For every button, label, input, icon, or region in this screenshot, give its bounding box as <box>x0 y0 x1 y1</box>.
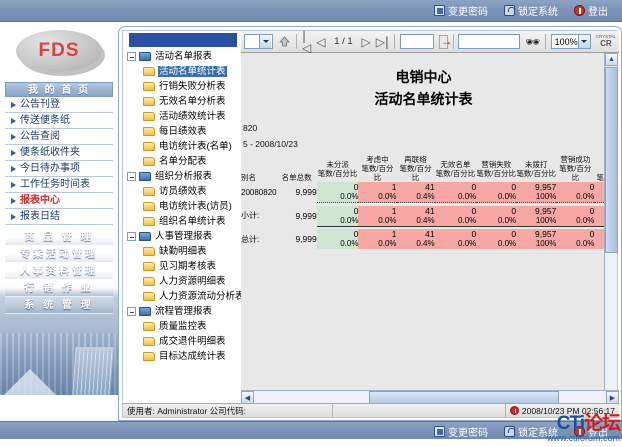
tree-item-label: 名单分配表 <box>158 156 208 167</box>
clock-icon <box>510 406 519 415</box>
cell-count: 0 <box>435 182 477 192</box>
report-meta-line1: 820 <box>241 123 606 133</box>
tree-header-bar <box>129 33 237 47</box>
cell-pct: 0.0% <box>358 239 396 249</box>
lock-system-button-bottom[interactable]: 锁定系统 <box>504 424 558 439</box>
tree-item-absence-detail[interactable]: 缺勤明细表 <box>123 244 241 259</box>
sidebar-item-task-schedule[interactable]: 工作任务时间表 <box>5 177 113 193</box>
tree-item-label: 见习期考核表 <box>158 261 217 272</box>
cell-pct: 0.0% <box>476 239 516 249</box>
table-header: 别名 名单总数 未分派笔数/百分比 考虑中笔数/百分比 再联络笔数/百分比 <box>241 155 606 182</box>
cell-pct: 0.0% <box>556 216 594 227</box>
cell-pct: 0.0% <box>435 192 477 203</box>
cell-count: 9,957 <box>516 229 556 239</box>
cell-pct: 0.0% <box>317 239 359 249</box>
chevron-down-icon[interactable] <box>259 35 271 48</box>
bullet-arrow-icon <box>11 150 16 156</box>
sidebar-section-campaign[interactable]: 专案活动管理 <box>5 246 113 263</box>
col-head-total: 名单总数 <box>277 155 317 182</box>
search-button[interactable]: 🕶 <box>525 34 540 49</box>
goto-page-button[interactable] <box>439 35 448 49</box>
lock-system-button[interactable]: 锁定系统 <box>504 3 558 18</box>
logout-button[interactable]: 登出 <box>574 3 608 18</box>
cell-pct: 0.0% <box>476 192 516 203</box>
folder-icon <box>139 307 151 316</box>
row-label: 总计: <box>241 229 277 249</box>
tree-group-label: 活动名单报表 <box>154 51 213 62</box>
report-icon <box>143 247 155 256</box>
report-vertical-scrollbar[interactable]: ▲ ▼ <box>604 53 617 405</box>
lock-icon <box>504 426 515 437</box>
status-datetime: 2008/10/23 PM 02:56:17 <box>522 406 615 416</box>
report-icon <box>143 82 155 91</box>
toolbar-separator <box>394 34 395 49</box>
change-password-button-bottom[interactable]: 变更密码 <box>434 424 488 439</box>
table-row: 小计: 9,999 0 1 41 0 0 9,957 0 <box>241 206 606 216</box>
tree-group-label: 流程管理报表 <box>154 306 213 317</box>
report-icon <box>143 337 155 346</box>
cell-pct: 0.0% <box>556 192 594 203</box>
tree-item-agent-performance[interactable]: 访员绩效表 <box>123 184 241 199</box>
sidebar-item-send-note[interactable]: 传送便条纸 <box>5 113 113 129</box>
export-button[interactable] <box>278 34 291 49</box>
report-icon <box>143 352 155 361</box>
report-icon <box>143 187 155 196</box>
zoom-select[interactable]: 100% <box>551 34 591 49</box>
cell-count: 41 <box>397 182 435 192</box>
bullet-arrow-icon <box>11 182 16 188</box>
sidebar-item-today-todo[interactable]: 今日待办事项 <box>5 161 113 177</box>
cell-pct: 0.0% <box>435 239 477 249</box>
tree-item-hr-detail[interactable]: 人力资源明细表 <box>123 274 241 289</box>
cell-count: 0 <box>317 182 359 192</box>
tree-item-probation-review[interactable]: 见习期考核表 <box>123 259 241 274</box>
cell-count: 1 <box>358 206 396 216</box>
report-window-inner: 活动名单报表 活动名单统计表 行销失败分析表 无效名单分析表 <box>122 30 618 418</box>
scroll-up-button[interactable]: ▲ <box>605 53 618 66</box>
report-title-line1: 电销中心 <box>241 67 606 87</box>
col-head-considering: 考虑中笔数/百分比 <box>358 155 396 182</box>
cell-count: 1 <box>358 229 396 239</box>
top-actions: 变更密码 锁定系统 登出 <box>434 3 608 18</box>
exit-icon <box>574 5 585 16</box>
sidebar-item-announce-view[interactable]: 公告查阅 <box>5 129 113 145</box>
status-bar: 使用者: Administrator 公司代码: 2008/10/23 PM 0… <box>123 403 619 417</box>
key-icon <box>434 5 445 16</box>
logo-text: FDS <box>16 40 102 62</box>
tree-group-org-analysis[interactable]: 组织分析报表 <box>123 169 241 184</box>
cell-pct: 0.0% <box>358 192 396 203</box>
cell-count: 0 <box>317 206 359 216</box>
report-icon <box>143 157 155 166</box>
cell-count: 0 <box>556 229 594 239</box>
crystal-brand-label: CRYSTAL CR <box>596 35 616 48</box>
cell-count: 0 <box>435 229 477 239</box>
sidebar-item-report-daily[interactable]: 报表日结 <box>5 209 113 225</box>
bullet-arrow-icon <box>11 134 16 140</box>
cell-count: 0 <box>435 206 477 216</box>
cell-pct: 100% <box>516 216 556 227</box>
last-page-button[interactable]: ▷| <box>376 34 389 49</box>
lock-icon <box>504 5 515 16</box>
tree-item-label: 人力资源流动分析表 <box>158 291 241 302</box>
report-icon <box>143 112 155 121</box>
col-head-unassigned: 未分派笔数/百分比 <box>317 155 359 182</box>
goto-page-input[interactable] <box>400 34 434 49</box>
row-total: 9,999 <box>277 206 317 227</box>
report-icon <box>143 292 155 301</box>
cell-pct: 0.0% <box>476 216 516 227</box>
export-arrow-icon <box>278 36 291 48</box>
tree-group-campaign-reports[interactable]: 活动名单报表 <box>123 49 241 64</box>
tree-item-label: 访员绩效表 <box>158 186 208 197</box>
cell-pct: 0.4% <box>397 239 435 249</box>
col-head-fail: 营销失败笔数/百分比 <box>476 155 516 182</box>
export-format-select[interactable] <box>244 34 273 49</box>
tree-group-label: 人事管理报表 <box>154 231 213 242</box>
bullet-arrow-icon <box>11 166 16 172</box>
exit-icon <box>574 426 585 437</box>
tree-item-label: 电访统计表(访员) <box>158 201 233 212</box>
tree-item-marketing-fail[interactable]: 行销失败分析表 <box>123 79 241 94</box>
tree-item-quality-monitor[interactable]: 质量监控表 <box>123 319 241 334</box>
toolbar-separator <box>453 34 454 49</box>
tree-item-label: 每日绩效表 <box>158 126 208 137</box>
page-indicator: 1 / 1 <box>330 36 356 47</box>
cell-pct: 0.0% <box>435 216 477 227</box>
status-spacer <box>333 404 506 418</box>
report-icon <box>143 142 155 151</box>
sidebar-item-report-center[interactable]: 报表中心 <box>5 193 113 209</box>
cell-count: 0 <box>476 229 516 239</box>
report-icon <box>143 217 155 226</box>
sidebar-item-label: 便条纸收件夹 <box>20 145 80 161</box>
change-password-label: 变更密码 <box>448 3 488 18</box>
status-datetime-area: 2008/10/23 PM 02:56:17 <box>506 404 619 418</box>
cell-count: 0 <box>476 182 516 192</box>
col-head-rowlabel: 别名 <box>241 155 277 182</box>
col-head-recontact: 再联络笔数/百分比 <box>397 155 435 182</box>
prev-page-button[interactable]: ◁ <box>316 34 325 49</box>
sidebar-item-announce-post[interactable]: 公告刊登 <box>5 97 113 113</box>
tree-item-daily-performance[interactable]: 每日绩效表 <box>123 124 241 139</box>
row-total: 9,999 <box>277 182 317 203</box>
cell-count: 0 <box>476 206 516 216</box>
bottom-actions: 变更密码 锁定系统 登出 <box>434 424 608 439</box>
sidebar-item-note-inbox[interactable]: 便条纸收件夹 <box>5 145 113 161</box>
application-window: 变更密码 锁定系统 登出 FDS 我 的 首 页 公告刊登 传送便条纸 <box>0 0 622 447</box>
cell-count: 41 <box>397 229 435 239</box>
collapse-icon[interactable] <box>127 232 136 241</box>
row-total: 9,999 <box>277 229 317 249</box>
sidebar-section-system[interactable]: 系 统 管 理 <box>5 297 113 314</box>
logout-label: 登出 <box>588 424 608 439</box>
folder-icon <box>139 232 151 241</box>
report-icon <box>143 262 155 271</box>
report-canvas[interactable]: 电销中心 活动名单统计表 820 5 - 2008/10/23 别名 名单总数 … <box>241 53 606 405</box>
report-meta-line2: 5 - 2008/10/23 <box>241 139 606 149</box>
tree-item-campaign-list-stats[interactable]: 活动名单统计表 <box>123 64 241 79</box>
cell-count: 1 <box>358 182 396 192</box>
report-icon <box>143 202 155 211</box>
bullet-arrow-icon <box>11 118 16 124</box>
tree-item-label: 活动绩效统计表 <box>158 111 227 122</box>
collapse-icon[interactable] <box>127 307 136 316</box>
table-body: 20080820 9,999 0 1 41 0 0 9,957 0 <box>241 182 606 249</box>
report-title-line2: 活动名单统计表 <box>241 89 606 109</box>
report-table: 别名 名单总数 未分派笔数/百分比 考虑中笔数/百分比 再联络笔数/百分比 <box>241 155 606 249</box>
report-tree-panel: 活动名单报表 活动名单统计表 行销失败分析表 无效名单分析表 <box>123 31 241 417</box>
tree-item-label: 无效名单分析表 <box>158 96 227 107</box>
collapse-icon[interactable] <box>127 52 136 61</box>
col-head-success: 营销成功笔数/百分比 <box>556 155 594 182</box>
tree-item-label: 目标达成统计表 <box>158 351 227 362</box>
toolbar-separator <box>545 34 546 49</box>
lock-system-label: 锁定系统 <box>518 3 558 18</box>
tree-item-label: 缺勤明细表 <box>158 246 208 257</box>
tree-item-list-allocation[interactable]: 名单分配表 <box>123 154 241 169</box>
tree-group-process-reports[interactable]: 流程管理报表 <box>123 304 241 319</box>
folder-icon <box>139 172 151 181</box>
status-user-text: 使用者: Administrator 公司代码: <box>123 404 333 418</box>
report-icon <box>143 277 155 286</box>
report-icon <box>143 127 155 136</box>
tree-item-label: 组织名单统计表 <box>158 216 227 227</box>
decorative-city-graphic <box>0 333 118 395</box>
logo-oval-shape: FDS <box>16 30 102 72</box>
sidebar-item-label: 工作任务时间表 <box>20 177 90 193</box>
tree-item-label: 行销失败分析表 <box>158 81 227 92</box>
lock-system-label: 锁定系统 <box>518 424 558 439</box>
vertical-scroll-thumb[interactable] <box>605 67 618 253</box>
tree-item-hr-turnover[interactable]: 人力资源流动分析表 <box>123 289 241 304</box>
next-page-button[interactable]: ▷ <box>361 34 370 49</box>
sidebar-section-hr[interactable]: 人事资料管理 <box>5 263 113 280</box>
cell-pct: 0.0% <box>358 216 396 227</box>
collapse-icon[interactable] <box>127 172 136 181</box>
table-row: 总计: 9,999 0 1 41 0 0 9,957 0 <box>241 229 606 239</box>
sidebar-section-marketing[interactable]: 行 销 作 业 <box>5 280 113 297</box>
tree-item-label: 电访统计表(名单) <box>158 141 233 152</box>
cell-pct: 100% <box>516 239 556 249</box>
row-label: 小计: <box>241 206 277 227</box>
cell-pct: 0.0% <box>317 192 359 203</box>
search-input[interactable] <box>458 34 520 49</box>
zoom-value: 100% <box>555 37 578 47</box>
tree-item-label: 活动名单统计表 <box>158 66 227 77</box>
tree-item-label: 人力资源明细表 <box>158 276 227 287</box>
binoculars-icon: 🕶 <box>525 35 540 49</box>
bullet-arrow-icon <box>11 198 16 204</box>
top-toolbar: 变更密码 锁定系统 登出 <box>0 0 622 22</box>
cell-count: 9,957 <box>516 206 556 216</box>
logout-label: 登出 <box>588 3 608 18</box>
chevron-down-icon[interactable] <box>578 35 590 48</box>
tree-group-label: 组织分析报表 <box>154 171 213 182</box>
toolbar-separator <box>296 34 297 49</box>
cell-pct: 0.0% <box>556 239 594 249</box>
tree-group-hr-reports[interactable]: 人事管理报表 <box>123 229 241 244</box>
report-page: 电销中心 活动名单统计表 820 5 - 2008/10/23 别名 名单总数 … <box>241 53 606 405</box>
bottom-toolbar: 变更密码 锁定系统 登出 <box>0 421 622 439</box>
report-icon <box>143 67 155 76</box>
tree-item-target-achievement[interactable]: 目标达成统计表 <box>123 349 241 364</box>
sidebar-item-label: 公告刊登 <box>20 97 60 113</box>
cell-pct: 100% <box>516 192 556 203</box>
bullet-arrow-icon <box>11 214 16 220</box>
sidebar-header: 我 的 首 页 <box>5 82 113 97</box>
table-row: 20080820 9,999 0 1 41 0 0 9,957 0 <box>241 182 606 192</box>
report-icon <box>143 97 155 106</box>
table-header-row: 别名 名单总数 未分派笔数/百分比 考虑中笔数/百分比 再联络笔数/百分比 <box>241 155 606 182</box>
sidebar-item-label: 报表日结 <box>20 209 60 225</box>
tree-item-call-stats-agent[interactable]: 电访统计表(访员) <box>123 199 241 214</box>
row-label: 20080820 <box>241 182 277 203</box>
tree-item-call-stats-list[interactable]: 电访统计表(名单) <box>123 139 241 154</box>
cell-count: 0 <box>556 206 594 216</box>
logout-button-bottom[interactable]: 登出 <box>574 424 608 439</box>
cell-count: 9,957 <box>516 182 556 192</box>
sidebar-section-product[interactable]: 商 品 管 理 <box>5 229 113 246</box>
tree-item-label: 质量监控表 <box>158 321 208 332</box>
tree-item-label: 成交退件明细表 <box>158 336 227 347</box>
tree-item-returned-detail[interactable]: 成交退件明细表 <box>123 334 241 349</box>
sidebar-item-label: 报表中心 <box>20 193 60 209</box>
footer-strip <box>0 439 622 447</box>
cell-count: 0 <box>317 229 359 239</box>
sidebar-item-label: 公告查阅 <box>20 129 60 145</box>
folder-icon <box>139 52 151 61</box>
cell-pct: 0.4% <box>397 216 435 227</box>
sidebar-item-label: 传送便条纸 <box>20 113 70 129</box>
change-password-button[interactable]: 变更密码 <box>434 3 488 18</box>
report-horizontal-scrollbar[interactable]: ◀ ▶ <box>241 390 619 403</box>
report-tree: 活动名单报表 活动名单统计表 行销失败分析表 无效名单分析表 <box>123 49 241 364</box>
report-icon <box>143 322 155 331</box>
change-password-label: 变更密码 <box>448 424 488 439</box>
cell-count: 0 <box>556 182 594 192</box>
sidebar: 我 的 首 页 公告刊登 传送便条纸 公告查阅 便条纸收件夹 今日待办事项 工作… <box>0 82 118 395</box>
first-page-button[interactable]: |◁ <box>302 34 311 49</box>
logo-area: FDS <box>0 22 118 82</box>
col-head-invalid: 无效名单笔数/百分比 <box>435 155 477 182</box>
cell-pct: 0.4% <box>397 192 435 203</box>
tree-item-org-list-stats[interactable]: 组织名单统计表 <box>123 214 241 229</box>
tree-item-invalid-list[interactable]: 无效名单分析表 <box>123 94 241 109</box>
bullet-arrow-icon <box>11 102 16 108</box>
report-window: 活动名单报表 活动名单统计表 行销失败分析表 无效名单分析表 <box>118 26 622 421</box>
tree-item-campaign-performance[interactable]: 活动绩效统计表 <box>123 109 241 124</box>
sidebar-item-label: 今日待办事项 <box>20 161 80 177</box>
col-head-notdialed: 未拨打笔数/百分比 <box>516 155 556 182</box>
cell-pct: 0.0% <box>317 216 359 227</box>
cell-count: 41 <box>397 206 435 216</box>
report-toolbar: |◁ ◁ 1 / 1 ▷ ▷| 🕶 100% CRYSTAL CR <box>241 31 619 53</box>
key-icon <box>434 426 445 437</box>
